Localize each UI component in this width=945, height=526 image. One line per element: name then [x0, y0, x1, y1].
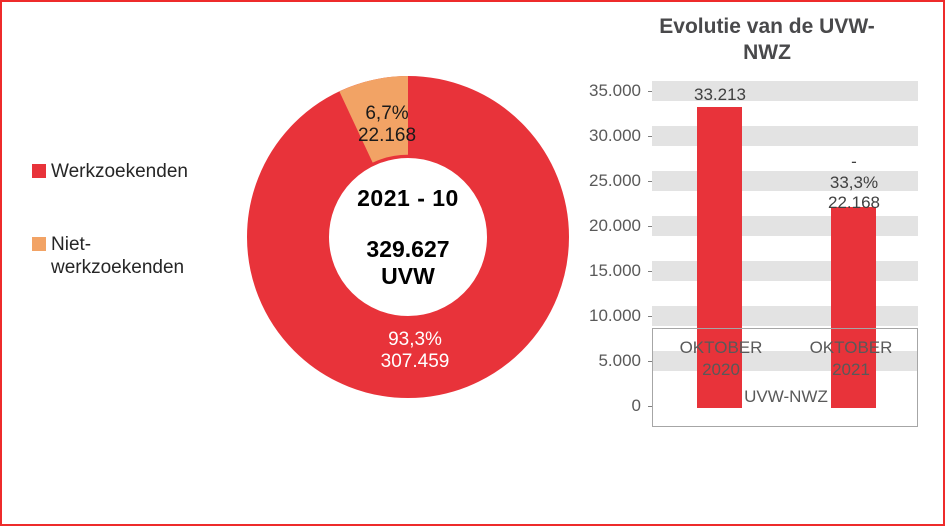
legend-label-niet-werkzoekenden: Niet- werkzoekenden	[51, 233, 184, 279]
donut-svg	[245, 74, 571, 400]
ytick-mark	[648, 316, 652, 317]
category-axis-box: OKTOBER 2020 OKTOBER 2021 UVW-NWZ	[652, 328, 918, 427]
category-label-oktober-2021: OKTOBER 2021	[791, 337, 911, 381]
bar-chart-title: Evolutie van de UVW- NWZ	[617, 14, 917, 66]
bar-chart-panel: Evolutie van de UVW- NWZ 35.000 30.000 2…	[562, 8, 937, 520]
cat0-line1: OKTOBER	[680, 338, 763, 357]
gridline-band	[652, 306, 918, 326]
ytick-label-20000: 20.000	[551, 216, 641, 236]
bar-title-line2: NWZ	[743, 41, 791, 64]
category-label-oktober-2020: OKTOBER 2020	[661, 337, 781, 381]
legend-swatch-red	[32, 164, 46, 178]
chart-frame: Werkzoekenden Niet- werkzoekenden 2021 -…	[0, 0, 945, 526]
ytick-mark	[648, 136, 652, 137]
ytick-label-35000: 35.000	[551, 81, 641, 101]
legend-label-line2: werkzoekenden	[51, 257, 184, 278]
bar-title-line1: Evolutie van de UVW-	[659, 15, 874, 38]
gridline-band	[652, 261, 918, 281]
cat0-line2: 2020	[702, 360, 740, 379]
donut-chart: 2021 - 10 329.627 UVW 6,7% 22.168 93,3% …	[245, 74, 571, 400]
bar-change-sign: -	[851, 152, 857, 171]
gridline-band	[652, 126, 918, 146]
ytick-mark	[648, 181, 652, 182]
gridline-band	[652, 216, 918, 236]
cat1-line1: OKTOBER	[810, 338, 893, 357]
axis-group-label: UVW-NWZ	[653, 387, 919, 407]
legend-swatch-orange	[32, 237, 46, 251]
donut-legend: Werkzoekenden Niet- werkzoekenden	[32, 160, 232, 330]
ytick-label-5000: 5.000	[551, 351, 641, 371]
ytick-mark	[648, 91, 652, 92]
legend-label-werkzoekenden: Werkzoekenden	[51, 160, 188, 183]
ytick-mark	[648, 271, 652, 272]
gridline-band	[652, 171, 918, 191]
ytick-label-25000: 25.000	[551, 171, 641, 191]
legend-label-line1: Niet-	[51, 234, 91, 255]
ytick-mark	[648, 226, 652, 227]
ytick-label-30000: 30.000	[551, 126, 641, 146]
cat1-line2: 2021	[832, 360, 870, 379]
ytick-label-0: 0	[551, 396, 641, 416]
legend-item-werkzoekenden[interactable]: Werkzoekenden	[32, 160, 232, 183]
ytick-label-10000: 10.000	[551, 306, 641, 326]
ytick-label-15000: 15.000	[551, 261, 641, 281]
gridline-band	[652, 81, 918, 101]
legend-item-niet-werkzoekenden[interactable]: Niet- werkzoekenden	[32, 233, 232, 279]
